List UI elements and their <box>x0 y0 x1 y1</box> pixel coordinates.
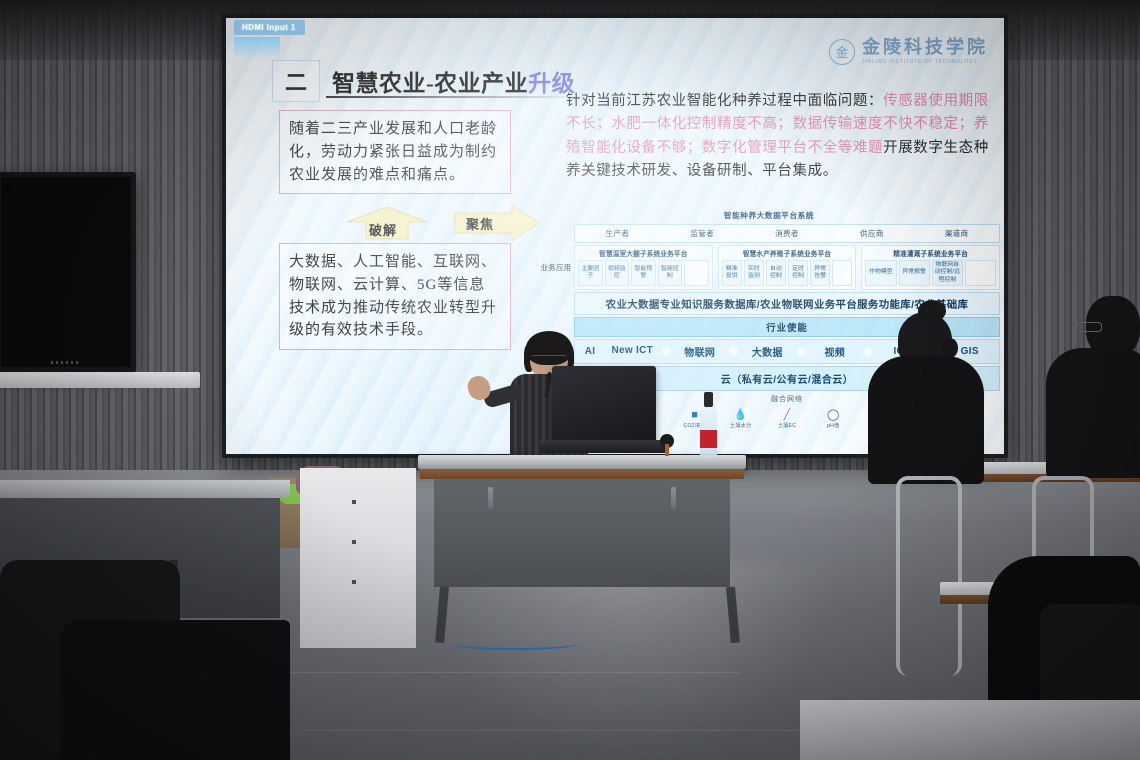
diagram-business-row: 业务应用 智慧温室大棚子系统业务平台 主要因子 视频监控 智能预警 智能控制 <box>538 245 1000 290</box>
group-cell: 精准投饵 <box>722 260 742 286</box>
tech-item-bigdata: 大数据 <box>740 344 795 359</box>
group-cell: 物联网自动控制/远程控制 <box>932 260 963 286</box>
white-desk-panel <box>300 468 416 648</box>
group-cell: 主要因子 <box>578 260 603 286</box>
group-title: 精准灌溉子系统业务平台 <box>865 248 996 258</box>
role-item: 监管者 <box>660 228 745 239</box>
diagram-roles-row: 生产者 监管者 消费者 供应商 渠道商 <box>538 224 1000 243</box>
group-cell: 视频监控 <box>605 260 630 286</box>
presenter-desk-edge <box>420 469 744 479</box>
roles-band: 生产者 监管者 消费者 供应商 渠道商 <box>574 224 1000 243</box>
sensor-item: ◯ pH值 <box>811 407 855 429</box>
foreground-desk-right <box>800 700 1140 760</box>
slide-section-number: 二 <box>272 60 320 102</box>
group-title: 智慧水产养殖子系统业务平台 <box>722 248 853 258</box>
role-item: 生产者 <box>575 228 660 239</box>
group-cell: 异常告警 <box>810 260 830 286</box>
secondary-display[interactable] <box>0 172 136 372</box>
role-item: 渠道商 <box>914 228 999 239</box>
group-cells: 主要因子 视频监控 智能预警 智能控制 <box>578 260 709 286</box>
arrow-up-label: 破解 <box>369 220 397 239</box>
tech-item-video: 视频 <box>808 344 863 359</box>
diagram-title: 智能种养大数据平台系统 <box>538 210 1000 221</box>
foreground-chair[interactable] <box>60 620 290 760</box>
group-cell: 智能控制 <box>658 260 683 286</box>
ring-icon: ◯ <box>811 407 855 422</box>
group-cell: 智能预警 <box>631 260 656 286</box>
sensor-label: pH值 <box>811 422 855 429</box>
business-group: 智慧温室大棚子系统业务平台 主要因子 视频监控 智能预警 智能控制 <box>574 245 713 290</box>
sensor-item: ╱ 土壤EC <box>765 407 809 429</box>
paragraph-lead: 针对当前江苏农业智能化种养过程中面临问题： <box>566 93 883 109</box>
presenter-desk-top <box>418 455 746 469</box>
student-glasses <box>1076 322 1102 332</box>
group-cell: 实时监测 <box>744 260 764 286</box>
role-item: 消费者 <box>745 228 830 239</box>
sensor-label: 土壤EC <box>765 422 809 429</box>
roles-side-spacer <box>538 224 574 243</box>
title-underline <box>326 96 586 98</box>
bottle-label <box>700 430 717 448</box>
hdmi-input-badge: HDMI Input 1 <box>234 20 305 35</box>
slide-paragraph: 针对当前江苏农业智能化种养过程中面临问题：传感器使用期限不长；水肥一体化控制精度… <box>566 90 996 184</box>
tech-item-iot: 物联网 <box>673 344 728 359</box>
floor-cable <box>450 636 580 650</box>
classroom-scene: HDMI Input 1 二 智慧农业-农业产业升级 金 金陵科技学院 JINL… <box>0 0 1140 760</box>
slide-left-box-2: 大数据、人工智能、互联网、物联网、云计算、5G等信息技术成为推动传统农业转型升级… <box>279 243 511 350</box>
logo-name-cn: 金陵科技学院 <box>862 38 988 56</box>
slide-title: 智慧农业-农业产业升级 <box>332 64 575 98</box>
wall-shelf <box>0 372 200 388</box>
group-cell-empty <box>684 260 709 286</box>
tech-item-newict: New ICT <box>605 346 660 357</box>
group-cells: 精准投饵 实时监测 自动控制 定时控制 异常告警 <box>722 260 853 286</box>
business-layer-label: 业务应用 <box>538 245 574 290</box>
bottle-cap <box>704 392 713 407</box>
tech-separator-dot-icon <box>662 347 671 356</box>
display-indicator-dots <box>51 361 81 364</box>
group-cell: 作物模型 <box>865 260 896 286</box>
tech-separator-dot-icon <box>797 347 806 356</box>
probe-icon: ╱ <box>765 407 809 422</box>
presenter-glasses <box>531 355 567 363</box>
student-ponytail <box>942 338 958 358</box>
group-cell-empty <box>965 260 996 286</box>
role-item: 供应商 <box>829 228 914 239</box>
chair-frame[interactable] <box>896 476 962 676</box>
student-torso <box>868 356 984 484</box>
slide-left-box-1: 随着二三产业发展和人口老龄化，劳动力紧张日益成为制约农业发展的难点和痛点。 <box>279 110 511 194</box>
group-title: 智慧温室大棚子系统业务平台 <box>578 248 709 258</box>
droplet-icon: 💧 <box>719 407 763 422</box>
group-cell: 异常报警 <box>899 260 930 286</box>
hdmi-badge-glow <box>234 37 280 59</box>
arrow-right-label: 聚焦 <box>466 214 494 233</box>
group-cells: 作物模型 异常报警 物联网自动控制/远程控制 <box>865 260 996 286</box>
sensor-label: 土壤水分 <box>719 422 763 429</box>
microphone-stand <box>665 444 669 456</box>
slide-title-main: 智慧农业-农业产业 <box>332 71 528 96</box>
school-logo: 金 金陵科技学院 JINLING INSTITUTE OF TECHNOLOGY <box>829 38 988 65</box>
foreground-desk-left <box>0 480 290 498</box>
water-bottle[interactable] <box>700 392 717 458</box>
business-groups: 智慧温室大棚子系统业务平台 主要因子 视频监控 智能预警 智能控制 <box>574 245 1000 290</box>
tech-separator-dot-icon <box>864 347 873 356</box>
laptop-screen[interactable] <box>552 366 656 442</box>
presenter-desk-panel <box>434 479 730 587</box>
logo-emblem-icon: 金 <box>829 39 855 65</box>
business-group: 精准灌溉子系统业务平台 作物模型 异常报警 物联网自动控制/远程控制 <box>861 245 1000 290</box>
laptop-keyboard[interactable] <box>540 440 668 453</box>
business-group: 智慧水产养殖子系统业务平台 精准投饵 实时监测 自动控制 定时控制 异常告警 <box>718 245 857 290</box>
floor-seam <box>300 730 820 731</box>
group-cell: 定时控制 <box>788 260 808 286</box>
group-cell-empty <box>832 260 852 286</box>
sensor-item: 💧 土壤水分 <box>719 407 763 429</box>
logo-name-en: JINLING INSTITUTE OF TECHNOLOGY <box>862 59 988 65</box>
panel-screw-dots <box>352 500 356 620</box>
group-cell: 自动控制 <box>766 260 786 286</box>
tech-separator-dot-icon <box>729 347 738 356</box>
student-torso <box>1046 348 1140 478</box>
